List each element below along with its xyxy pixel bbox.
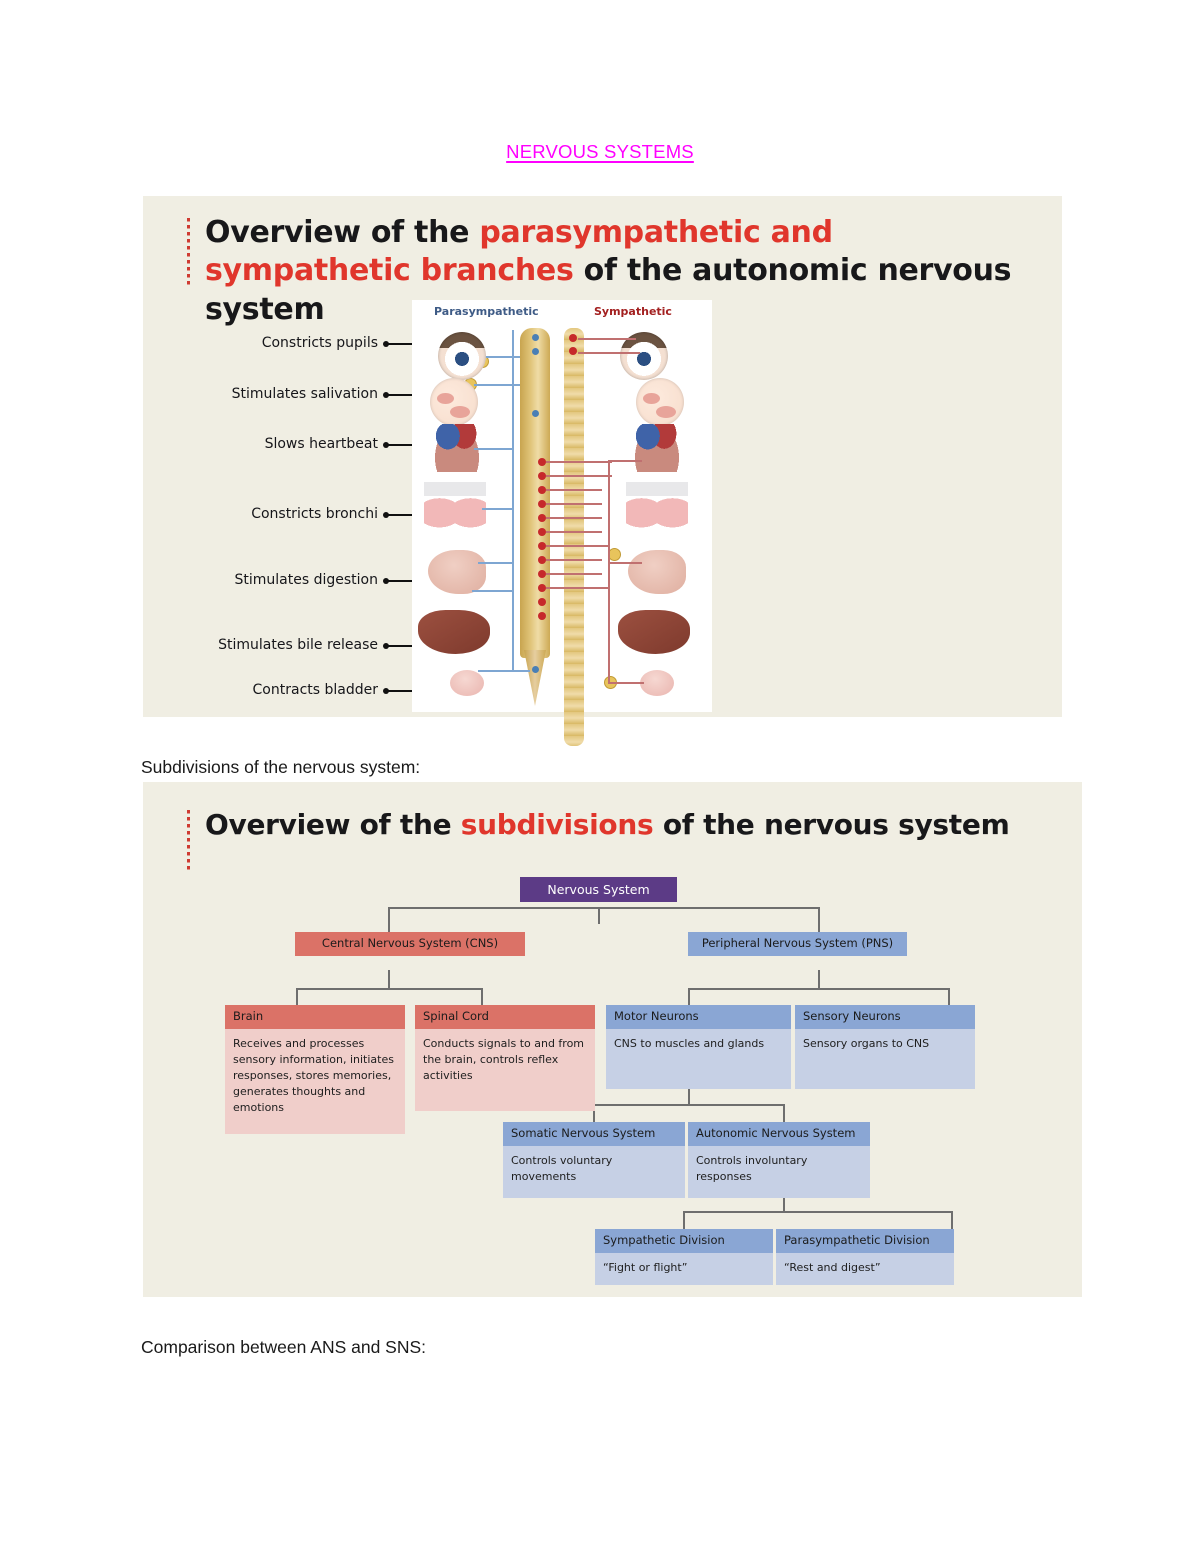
- organ-eye-parasympathetic: [438, 332, 486, 380]
- nerve-wire-sympathetic: [578, 352, 640, 354]
- nerve-wire-sympathetic: [546, 545, 610, 547]
- nerve-wire-sympathetic: [546, 489, 602, 491]
- sympathetic-ganglion-icon: [538, 500, 546, 508]
- sympathetic-ganglion-icon: [538, 486, 546, 494]
- flow-node-motor-neurons[interactable]: Motor Neurons CNS to muscles and glands: [606, 1005, 791, 1089]
- nerve-wire-sympathetic: [546, 461, 612, 463]
- sympathetic-ganglion-icon: [538, 458, 546, 466]
- parasympathetic-cord: [520, 328, 550, 658]
- cord-node-icon: [532, 410, 539, 417]
- figure-autonomic-nervous-system: Overview of the parasympathetic and symp…: [143, 196, 1062, 717]
- flow-node-autonomic-nervous-system[interactable]: Autonomic Nervous System Controls involu…: [688, 1122, 870, 1198]
- organ-stomach-sympathetic: [628, 550, 686, 594]
- connector: [388, 907, 818, 909]
- sympathetic-ganglion-icon: [569, 334, 577, 342]
- cord-node-icon: [532, 334, 539, 341]
- callout-label-slows-heartbeat: Slows heartbeat: [143, 436, 378, 452]
- cord-node-icon: [532, 666, 539, 673]
- sympathetic-ganglion-icon: [538, 612, 546, 620]
- flow-node-title: Parasympathetic Division: [776, 1229, 954, 1253]
- nerve-wire-sympathetic: [608, 562, 642, 564]
- organ-bladder-parasympathetic: [450, 670, 484, 696]
- organ-salivary-gland-sympathetic: [636, 378, 684, 426]
- organ-stomach-parasympathetic: [428, 550, 486, 594]
- flow-node-sympathetic-division[interactable]: Sympathetic Division “Fight or flight”: [595, 1229, 773, 1285]
- callout-label-stimulates-salivation: Stimulates salivation: [143, 386, 378, 402]
- callout-label-constricts-bronchi: Constricts bronchi: [143, 506, 378, 522]
- nerve-wire-parasympathetic: [486, 356, 520, 358]
- nerve-wire-sympathetic: [546, 475, 612, 477]
- flow-node-body: “Rest and digest”: [776, 1253, 954, 1285]
- sympathetic-ganglion-icon: [538, 556, 546, 564]
- flow-node-title: Sensory Neurons: [795, 1005, 975, 1029]
- figure1-heading-part1: Overview of the: [205, 215, 479, 250]
- sympathetic-ganglion-icon: [538, 598, 546, 606]
- organ-liver-sympathetic: [618, 610, 690, 654]
- sympathetic-ganglion-icon: [538, 584, 546, 592]
- nerve-wire-sympathetic: [546, 573, 602, 575]
- flow-node-title: Spinal Cord: [415, 1005, 595, 1029]
- flow-node-title: Sympathetic Division: [595, 1229, 773, 1253]
- connector: [296, 988, 298, 1005]
- connector: [683, 1211, 685, 1229]
- flow-node-body: CNS to muscles and glands: [606, 1029, 791, 1089]
- flow-node-title: Brain: [225, 1005, 405, 1029]
- sympathetic-ganglion-icon: [538, 472, 546, 480]
- page-title: NERVOUS SYSTEMS: [0, 141, 1200, 163]
- nerve-wire-sympathetic: [546, 517, 602, 519]
- connector: [296, 988, 481, 990]
- flow-node-nervous-system[interactable]: Nervous System: [520, 877, 677, 902]
- flow-node-title: Somatic Nervous System: [503, 1122, 685, 1146]
- nerve-wire-parasympathetic: [478, 670, 530, 672]
- organ-bladder-sympathetic: [640, 670, 674, 696]
- connector: [818, 970, 820, 988]
- connector: [388, 907, 390, 932]
- sympathetic-ganglion-icon: [569, 347, 577, 355]
- nerve-wire-sympathetic: [608, 460, 642, 462]
- connector: [783, 1104, 785, 1122]
- flow-node-spinal-cord[interactable]: Spinal Cord Conducts signals to and from…: [415, 1005, 595, 1111]
- connector: [688, 1087, 690, 1104]
- organ-salivary-gland-parasympathetic: [430, 378, 478, 426]
- nerve-wire-parasympathetic: [482, 508, 514, 510]
- sympathetic-chain: [564, 328, 584, 746]
- connector: [481, 988, 483, 1005]
- nerve-wire-sympathetic: [546, 559, 602, 561]
- flow-node-parasympathetic-division[interactable]: Parasympathetic Division “Rest and diges…: [776, 1229, 954, 1285]
- nerve-wire-parasympathetic: [478, 562, 514, 564]
- flow-node-title: Motor Neurons: [606, 1005, 791, 1029]
- callout-label-stimulates-bile-release: Stimulates bile release: [143, 637, 378, 653]
- callout-label-contracts-bladder: Contracts bladder: [143, 682, 378, 698]
- flow-node-body: Receives and processes sensory informati…: [225, 1029, 405, 1134]
- callout-label-stimulates-digestion: Stimulates digestion: [143, 572, 378, 588]
- connector: [598, 907, 600, 924]
- flow-node-title: Peripheral Nervous System (PNS): [688, 932, 907, 956]
- nerve-wire-sympathetic: [546, 503, 602, 505]
- connector: [593, 1104, 783, 1106]
- column-label-sympathetic: Sympathetic: [594, 305, 672, 318]
- anatomy-diagram: Parasympathetic Sympathetic: [412, 300, 712, 712]
- accent-bar-icon: [187, 218, 190, 286]
- nerve-wire-sympathetic: [608, 462, 610, 682]
- figure-nervous-system-subdivisions: Overview of the subdivisions of the nerv…: [143, 782, 1082, 1297]
- sympathetic-ganglion-icon: [538, 528, 546, 536]
- organ-lungs-parasympathetic: [424, 482, 486, 538]
- flow-node-sensory-neurons[interactable]: Sensory Neurons Sensory organs to CNS: [795, 1005, 975, 1089]
- nerve-wire-sympathetic: [608, 682, 644, 684]
- connector: [818, 907, 820, 932]
- connector: [688, 988, 690, 1005]
- flow-node-body: Conducts signals to and from the brain, …: [415, 1029, 595, 1111]
- column-label-parasympathetic: Parasympathetic: [434, 305, 539, 318]
- paragraph-comparison: Comparison between ANS and SNS:: [141, 1337, 426, 1358]
- flow-node-cns[interactable]: Central Nervous System (CNS): [295, 932, 525, 956]
- connector: [951, 1211, 953, 1229]
- flow-node-title: Central Nervous System (CNS): [295, 932, 525, 956]
- sympathetic-ganglion-icon: [538, 514, 546, 522]
- flow-node-pns[interactable]: Peripheral Nervous System (PNS): [688, 932, 907, 956]
- connector: [948, 988, 950, 1005]
- connector: [688, 988, 948, 990]
- flow-node-brain[interactable]: Brain Receives and processes sensory inf…: [225, 1005, 405, 1134]
- flow-node-title: Nervous System: [520, 877, 677, 902]
- nerve-wire-parasympathetic: [474, 448, 514, 450]
- nerve-wire-sympathetic: [578, 338, 636, 340]
- flow-node-title: Autonomic Nervous System: [688, 1122, 870, 1146]
- sympathetic-ganglion-icon: [538, 570, 546, 578]
- cord-node-icon: [532, 348, 539, 355]
- flowchart-nervous-system: Nervous System Central Nervous System (C…: [143, 782, 1082, 1297]
- nerve-wire-parasympathetic: [472, 590, 514, 592]
- flow-node-body: Sensory organs to CNS: [795, 1029, 975, 1089]
- flow-node-body: Controls voluntary movements: [503, 1146, 685, 1198]
- flow-node-somatic-nervous-system[interactable]: Somatic Nervous System Controls voluntar…: [503, 1122, 685, 1198]
- flow-node-body: “Fight or flight”: [595, 1253, 773, 1285]
- callout-label-constricts-pupils: Constricts pupils: [143, 335, 378, 351]
- organ-lungs-sympathetic: [626, 482, 688, 538]
- flow-node-body: Controls involuntary responses: [688, 1146, 870, 1198]
- organ-heart-sympathetic: [634, 424, 680, 472]
- sympathetic-ganglion-icon: [538, 542, 546, 550]
- paragraph-subdivisions: Subdivisions of the nervous system:: [141, 757, 420, 778]
- nerve-wire-sympathetic: [546, 531, 602, 533]
- connector: [683, 1211, 951, 1213]
- connector: [388, 970, 390, 988]
- page-title-text: NERVOUS SYSTEMS: [506, 141, 694, 162]
- nerve-wire-parasympathetic: [512, 330, 514, 670]
- nerve-wire-sympathetic: [546, 587, 608, 589]
- organ-liver-parasympathetic: [418, 610, 490, 654]
